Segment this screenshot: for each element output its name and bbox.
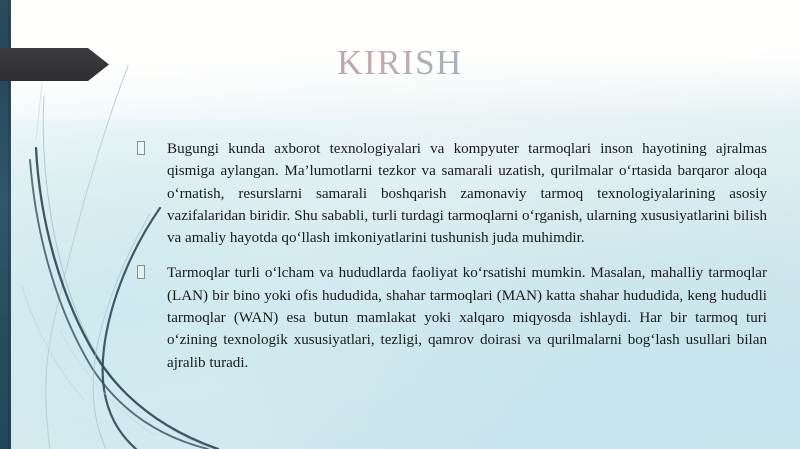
page-title: KIRISH bbox=[0, 43, 800, 83]
bullet-list: Bugungi kunda axborot texnologiyalari va… bbox=[137, 138, 767, 374]
bullet-marker-icon bbox=[137, 138, 167, 160]
bullet-paragraph-2: Tarmoqlar turli o‘lcham va hududlarda fa… bbox=[167, 262, 767, 373]
list-item: Bugungi kunda axborot texnologiyalari va… bbox=[137, 138, 767, 249]
slide-canvas: KIRISH Bugungi kunda axborot texnologiya… bbox=[0, 0, 800, 449]
bullet-marker-icon bbox=[137, 262, 167, 284]
bullet-paragraph-1: Bugungi kunda axborot texnologiyalari va… bbox=[167, 138, 767, 249]
list-item: Tarmoqlar turli o‘lcham va hududlarda fa… bbox=[137, 262, 767, 373]
